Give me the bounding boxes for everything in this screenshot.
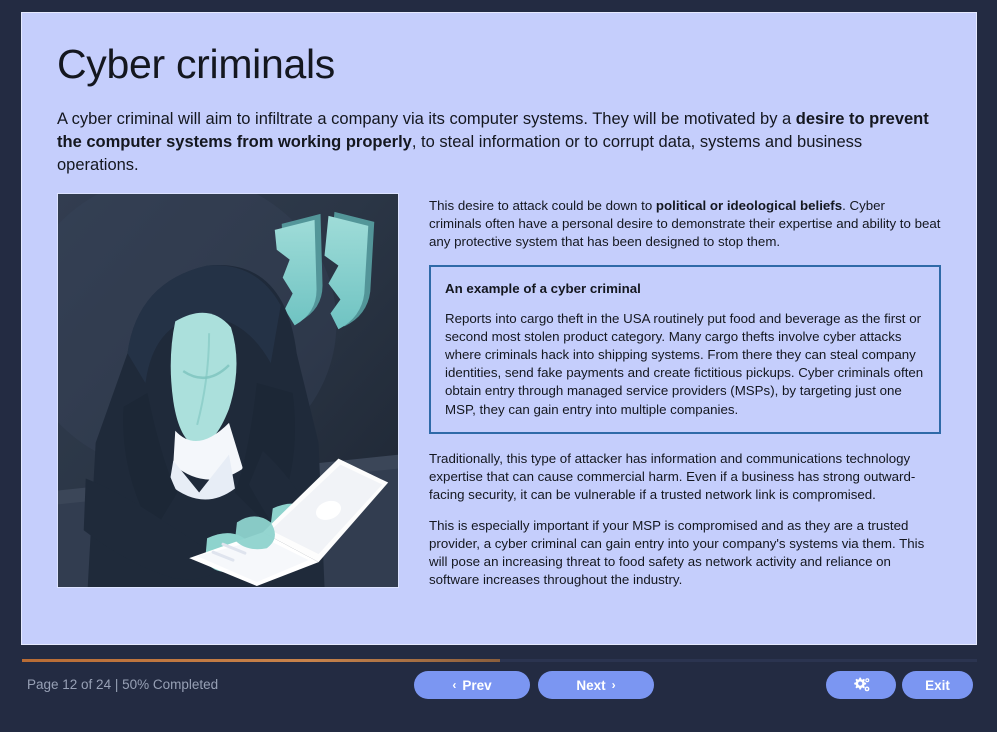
illustration-svg [58,194,398,587]
example-box-body: Reports into cargo theft in the USA rout… [445,310,925,418]
cogs-icon [852,677,871,694]
cyber-criminal-illustration [57,193,399,588]
intro-paragraph: A cyber criminal will aim to infiltrate … [57,108,941,176]
exit-button-label: Exit [925,678,950,693]
content-columns: This desire to attack could be down to p… [57,193,941,603]
right-paragraph-1-part-2-bold: political or ideological beliefs [656,198,842,213]
illustration-column [57,193,399,588]
slide-card: Cyber criminals A cyber criminal will ai… [21,12,977,645]
bottom-navigation-bar: Page 12 of 24 | 50% Completed ‹ Prev Nex… [0,665,997,732]
next-button[interactable]: Next › [538,671,654,699]
chevron-right-icon: › [612,679,616,691]
right-paragraph-1: This desire to attack could be down to p… [429,197,941,251]
intro-text-part-1: A cyber criminal will aim to infiltrate … [57,110,796,128]
prev-button[interactable]: ‹ Prev [414,671,530,699]
text-column: This desire to attack could be down to p… [429,193,941,603]
page-title: Cyber criminals [57,43,941,86]
progress-bar-track [22,659,977,662]
example-callout-box: An example of a cyber criminal Reports i… [429,265,941,433]
prev-button-label: Prev [462,678,491,693]
example-box-heading: An example of a cyber criminal [445,281,925,296]
right-paragraph-1-part-1: This desire to attack could be down to [429,198,656,213]
next-button-label: Next [576,678,605,693]
right-paragraph-3: This is especially important if your MSP… [429,517,941,589]
chevron-left-icon: ‹ [452,679,456,691]
page-status-text: Page 12 of 24 | 50% Completed [27,677,218,692]
exit-button[interactable]: Exit [902,671,973,699]
settings-button[interactable] [826,671,896,699]
presentation-screen: Cyber criminals A cyber criminal will ai… [0,0,997,732]
right-paragraph-2: Traditionally, this type of attacker has… [429,450,941,504]
progress-bar-fill [22,659,500,662]
